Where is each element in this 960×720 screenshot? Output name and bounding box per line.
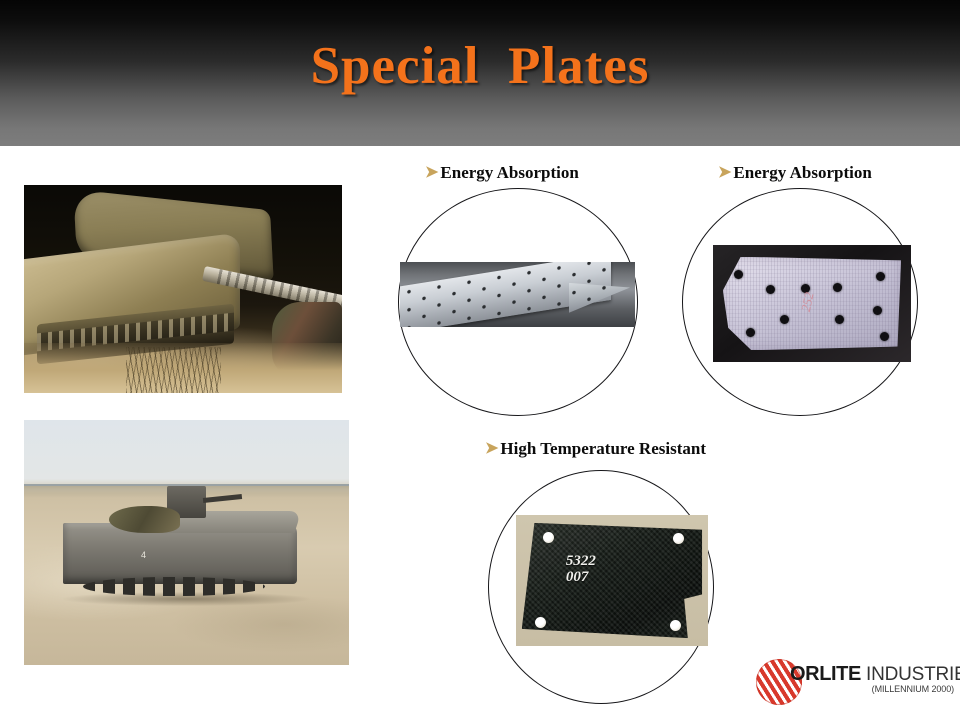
arrow-bullet-icon: ➤ xyxy=(425,162,438,182)
photo-metal-plate xyxy=(400,262,635,327)
apc-hull-marking: 4 xyxy=(141,550,146,560)
caption-text: High Temperature Resistant xyxy=(500,439,706,458)
caption-high-temperature-resistant: ➤High Temperature Resistant xyxy=(485,439,706,459)
logo-name-bold: ORLITE xyxy=(790,663,861,685)
caption-energy-absorption-right: ➤Energy Absorption xyxy=(718,163,872,183)
logo-tagline: (MILLENNIUM 2000) xyxy=(872,684,954,694)
carbon-plate-handwritten-mark: 5322 007 xyxy=(566,554,596,586)
photo-composite-plate: 252 xyxy=(713,245,911,362)
photo-apc-desert: 4 xyxy=(24,420,349,665)
caption-text: Energy Absorption xyxy=(440,163,578,182)
logo-name-rest: INDUSTRIES Ltd. xyxy=(861,664,960,685)
slide-canvas: Special Plates 4 ➤Energy Absorption ➤Ene… xyxy=(0,0,960,720)
orlite-logo-text: ORLITE INDUSTRIES Ltd. xyxy=(790,663,960,686)
arrow-bullet-icon: ➤ xyxy=(718,162,731,182)
caption-energy-absorption-left: ➤Energy Absorption xyxy=(425,163,579,183)
apc-stowed-gear xyxy=(109,506,181,533)
page-title: Special Plates xyxy=(0,36,960,96)
metal-plate-bolt-holes xyxy=(405,262,612,327)
photo-carbon-plate: 5322 007 xyxy=(516,515,708,646)
tank-desert-brush xyxy=(126,347,221,393)
arrow-bullet-icon: ➤ xyxy=(485,438,498,458)
photo-merkava-tank xyxy=(24,185,342,393)
caption-text: Energy Absorption xyxy=(733,163,871,182)
orlite-logo: ORLITE INDUSTRIES Ltd. (MILLENNIUM 2000) xyxy=(756,655,956,711)
